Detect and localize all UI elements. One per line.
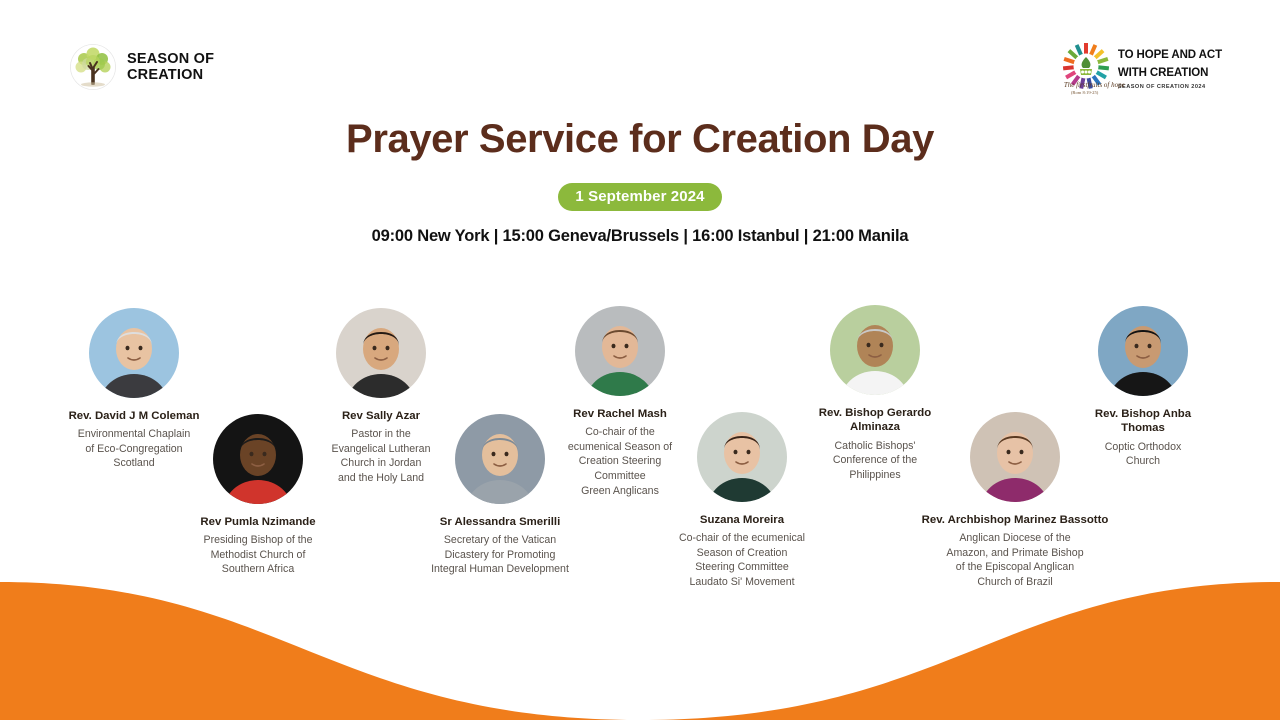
speaker-role: Co-chair of the ecumenical Season of Cre… xyxy=(642,531,842,589)
theme-tagline: The firstfruits of hope xyxy=(1064,81,1125,89)
season-of-creation-logo: SEASON OF CREATION xyxy=(70,44,214,90)
speaker-name: Suzana Moreira xyxy=(642,513,842,527)
theme-reference: (Rom 8:19-25) xyxy=(1071,90,1098,95)
timezones-line: 09:00 New York | 15:00 Geneva/Brussels |… xyxy=(0,227,1280,246)
portrait-suzana-moreira xyxy=(697,412,787,502)
theme-wordmark: TO HOPE AND ACT WITH CREATION SEASON OF … xyxy=(1118,42,1222,90)
speaker-role: Coptic Orthodox Church xyxy=(1043,440,1243,469)
date-badge-wrapper: 1 September 2024 xyxy=(0,183,1280,211)
logo-line-1: SEASON OF xyxy=(127,51,214,67)
portrait-anba-thomas xyxy=(1098,306,1188,396)
portrait-sally-azar xyxy=(336,308,426,398)
speaker-name: Rev Pumla Nzimande xyxy=(158,515,358,529)
theme-line-1: TO HOPE AND ACT xyxy=(1118,49,1222,61)
speaker-role: Anglican Diocese of the Amazon, and Prim… xyxy=(895,531,1135,589)
speaker-name: Sr Alessandra Smerilli xyxy=(400,515,600,529)
date-badge: 1 September 2024 xyxy=(558,183,721,211)
page-title: Prayer Service for Creation Day xyxy=(0,117,1280,162)
tree-circle-logo-icon xyxy=(70,44,116,90)
speaker-role: Presiding Bishop of the Methodist Church… xyxy=(158,533,358,577)
theme-line-2: WITH CREATION xyxy=(1118,67,1208,79)
soc-2024-theme-logo: TO HOPE AND ACT WITH CREATION SEASON OF … xyxy=(1062,42,1222,90)
speaker-role: Secretary of the Vatican Dicastery for P… xyxy=(400,533,600,577)
logo-line-2: CREATION xyxy=(127,67,203,83)
speaker-name: Rev. Archbishop Marinez Bassotto xyxy=(895,513,1135,527)
slide-canvas: SEASON OF CREATION xyxy=(0,0,1280,720)
portrait-gerardo-alminaza xyxy=(830,305,920,395)
speaker-card: Rev. Bishop Anba ThomasCoptic Orthodox C… xyxy=(1043,306,1243,469)
season-of-creation-wordmark: SEASON OF CREATION xyxy=(127,51,214,83)
speaker-name: Rev. Bishop Anba Thomas xyxy=(1043,407,1243,436)
theme-subline: SEASON OF CREATION 2024 xyxy=(1118,84,1222,90)
portrait-david-coleman xyxy=(89,308,179,398)
portrait-rachel-mash xyxy=(575,306,665,396)
